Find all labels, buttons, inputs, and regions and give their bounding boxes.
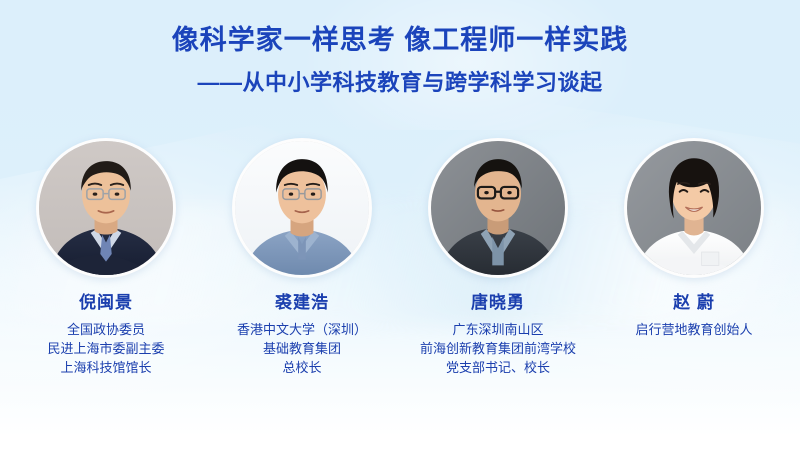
speaker-title-line: 广东深圳南山区 xyxy=(420,320,576,339)
speaker-title-line: 全国政协委员 xyxy=(47,320,164,339)
speaker-name: 唐晓勇 xyxy=(471,292,525,314)
speaker-titles: 启行营地教育创始人 xyxy=(635,320,752,339)
speaker-title-line: 上海科技馆馆长 xyxy=(47,358,164,377)
speaker-title-line: 启行营地教育创始人 xyxy=(635,320,752,339)
speaker-title-line: 基础教育集团 xyxy=(237,339,367,358)
portrait-illustration-1 xyxy=(39,141,173,275)
speaker-avatar xyxy=(624,138,764,278)
speaker-avatar xyxy=(428,138,568,278)
speaker-name: 裘建浩 xyxy=(275,292,329,314)
speaker-card: 裘建浩 香港中文大学（深圳） 基础教育集团 总校长 xyxy=(204,138,400,377)
speaker-list: 倪闽景 全国政协委员 民进上海市委副主委 上海科技馆馆长 xyxy=(0,138,800,377)
speaker-card: 赵 蔚 启行营地教育创始人 xyxy=(596,138,792,377)
portrait-illustration-3 xyxy=(431,141,565,275)
speaker-title-line: 民进上海市委副主委 xyxy=(47,339,164,358)
speaker-title-line: 前海创新教育集团前湾学校 xyxy=(420,339,576,358)
speaker-card: 唐晓勇 广东深圳南山区 前海创新教育集团前湾学校 党支部书记、校长 xyxy=(400,138,596,377)
poster-title-line-1: 像科学家一样思考 像工程师一样实践 xyxy=(0,22,800,58)
speaker-avatar xyxy=(36,138,176,278)
speaker-name: 倪闽景 xyxy=(79,292,133,314)
speaker-card: 倪闽景 全国政协委员 民进上海市委副主委 上海科技馆馆长 xyxy=(8,138,204,377)
speaker-titles: 广东深圳南山区 前海创新教育集团前湾学校 党支部书记、校长 xyxy=(420,320,576,377)
speaker-title-line: 党支部书记、校长 xyxy=(420,358,576,377)
speaker-titles: 全国政协委员 民进上海市委副主委 上海科技馆馆长 xyxy=(47,320,164,377)
speaker-title-line: 香港中文大学（深圳） xyxy=(237,320,367,339)
poster-root: 像科学家一样思考 像工程师一样实践 ——从中小学科技教育与跨学科学习谈起 xyxy=(0,0,800,450)
portrait-illustration-4 xyxy=(627,141,761,275)
speaker-name: 赵 蔚 xyxy=(673,292,715,314)
poster-title-line-2: ——从中小学科技教育与跨学科学习谈起 xyxy=(0,66,800,100)
portrait-illustration-2 xyxy=(235,141,369,275)
speaker-avatar xyxy=(232,138,372,278)
speaker-titles: 香港中文大学（深圳） 基础教育集团 总校长 xyxy=(237,320,367,377)
speaker-title-line: 总校长 xyxy=(237,358,367,377)
headline-block: 像科学家一样思考 像工程师一样实践 ——从中小学科技教育与跨学科学习谈起 xyxy=(0,22,800,100)
